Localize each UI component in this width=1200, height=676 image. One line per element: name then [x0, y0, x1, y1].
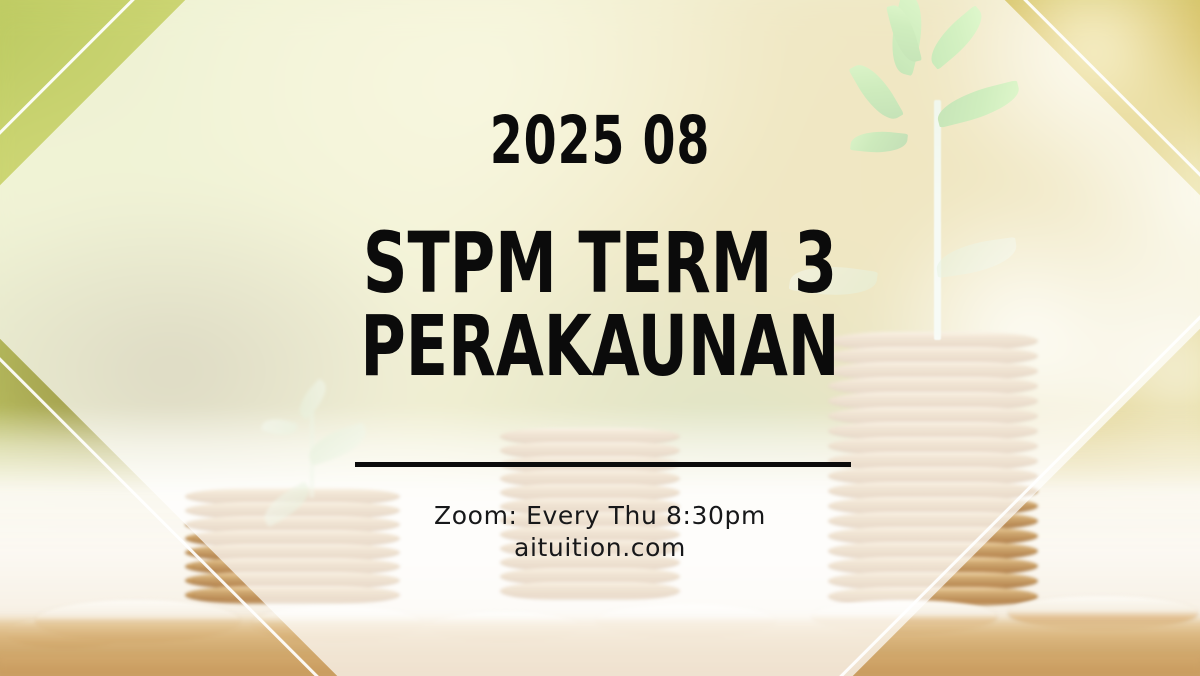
poster-canvas: 2025 08 STPM TERM 3 PERAKAUNAN Zoom: Eve… — [0, 0, 1200, 676]
poster-subtitle-block: Zoom: Every Thu 8:30pm aituition.com — [0, 500, 1200, 564]
subtitle-website: aituition.com — [0, 532, 1200, 564]
horizontal-rule-divider — [355, 462, 851, 467]
headline-line-1: STPM TERM 3 — [108, 222, 1092, 305]
poster-eyebrow-date: 2025 08 — [120, 108, 1080, 174]
headline-line-2: PERAKAUNAN — [108, 305, 1092, 388]
subtitle-schedule: Zoom: Every Thu 8:30pm — [0, 500, 1200, 532]
poster-headline: STPM TERM 3 PERAKAUNAN — [108, 222, 1092, 388]
poster-content: 2025 08 STPM TERM 3 PERAKAUNAN Zoom: Eve… — [0, 0, 1200, 676]
